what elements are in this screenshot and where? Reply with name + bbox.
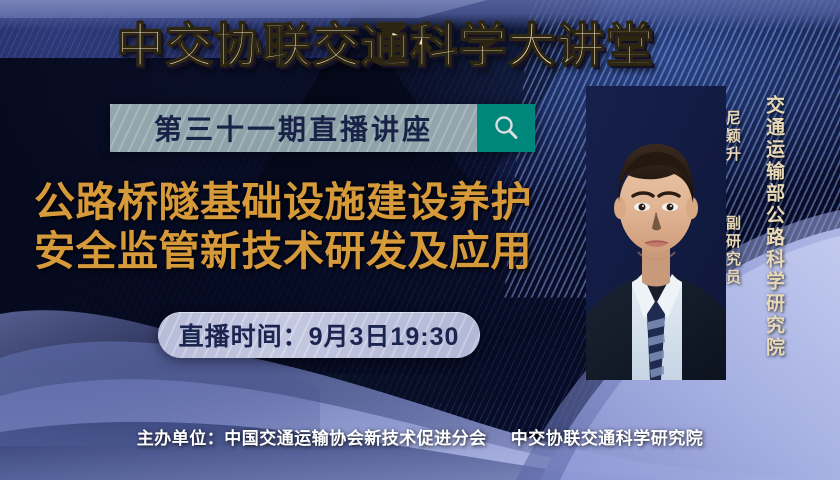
- schedule-label: 直播时间：9月3日19:30: [179, 317, 460, 353]
- lecture-title-line1: 公路桥隧基础设施建设养护: [34, 178, 594, 227]
- search-icon[interactable]: [477, 104, 535, 152]
- session-banner-body: 第三十一期直播讲座: [110, 104, 477, 152]
- footer-organizers: 主办单位：中国交通运输协会新技术促进分会中交协联交通科学研究院: [0, 424, 840, 449]
- footer-organizer-1: 中国交通运输协会新技术促进分会: [224, 429, 487, 448]
- footer-prefix: 主办单位：: [137, 429, 225, 448]
- speaker-portrait: [586, 86, 726, 380]
- footer-organizer-2: 中交协联交通科学研究院: [511, 429, 704, 448]
- page-title: 中交协联交通科学大讲堂: [116, 17, 708, 75]
- session-banner: 第三十一期直播讲座: [110, 104, 535, 152]
- speaker-organization: 交通运输部公路科学研究院: [760, 95, 787, 359]
- schedule-badge: 直播时间：9月3日19:30: [158, 312, 480, 358]
- speaker-role: 副研究员: [722, 215, 743, 287]
- speaker-name: 尼颖升: [722, 110, 743, 164]
- live-stream-poster: 中交协联交通科学大讲堂 第三十一期直播讲座 公路桥隧基础设施建设养护 安全监管新…: [0, 0, 840, 480]
- background-top-highlight: [0, 0, 487, 18]
- session-label: 第三十一期直播讲座: [154, 108, 433, 148]
- lecture-title-line2: 安全监管新技术研发及应用: [34, 227, 594, 276]
- lecture-title: 公路桥隧基础设施建设养护 安全监管新技术研发及应用: [34, 178, 594, 276]
